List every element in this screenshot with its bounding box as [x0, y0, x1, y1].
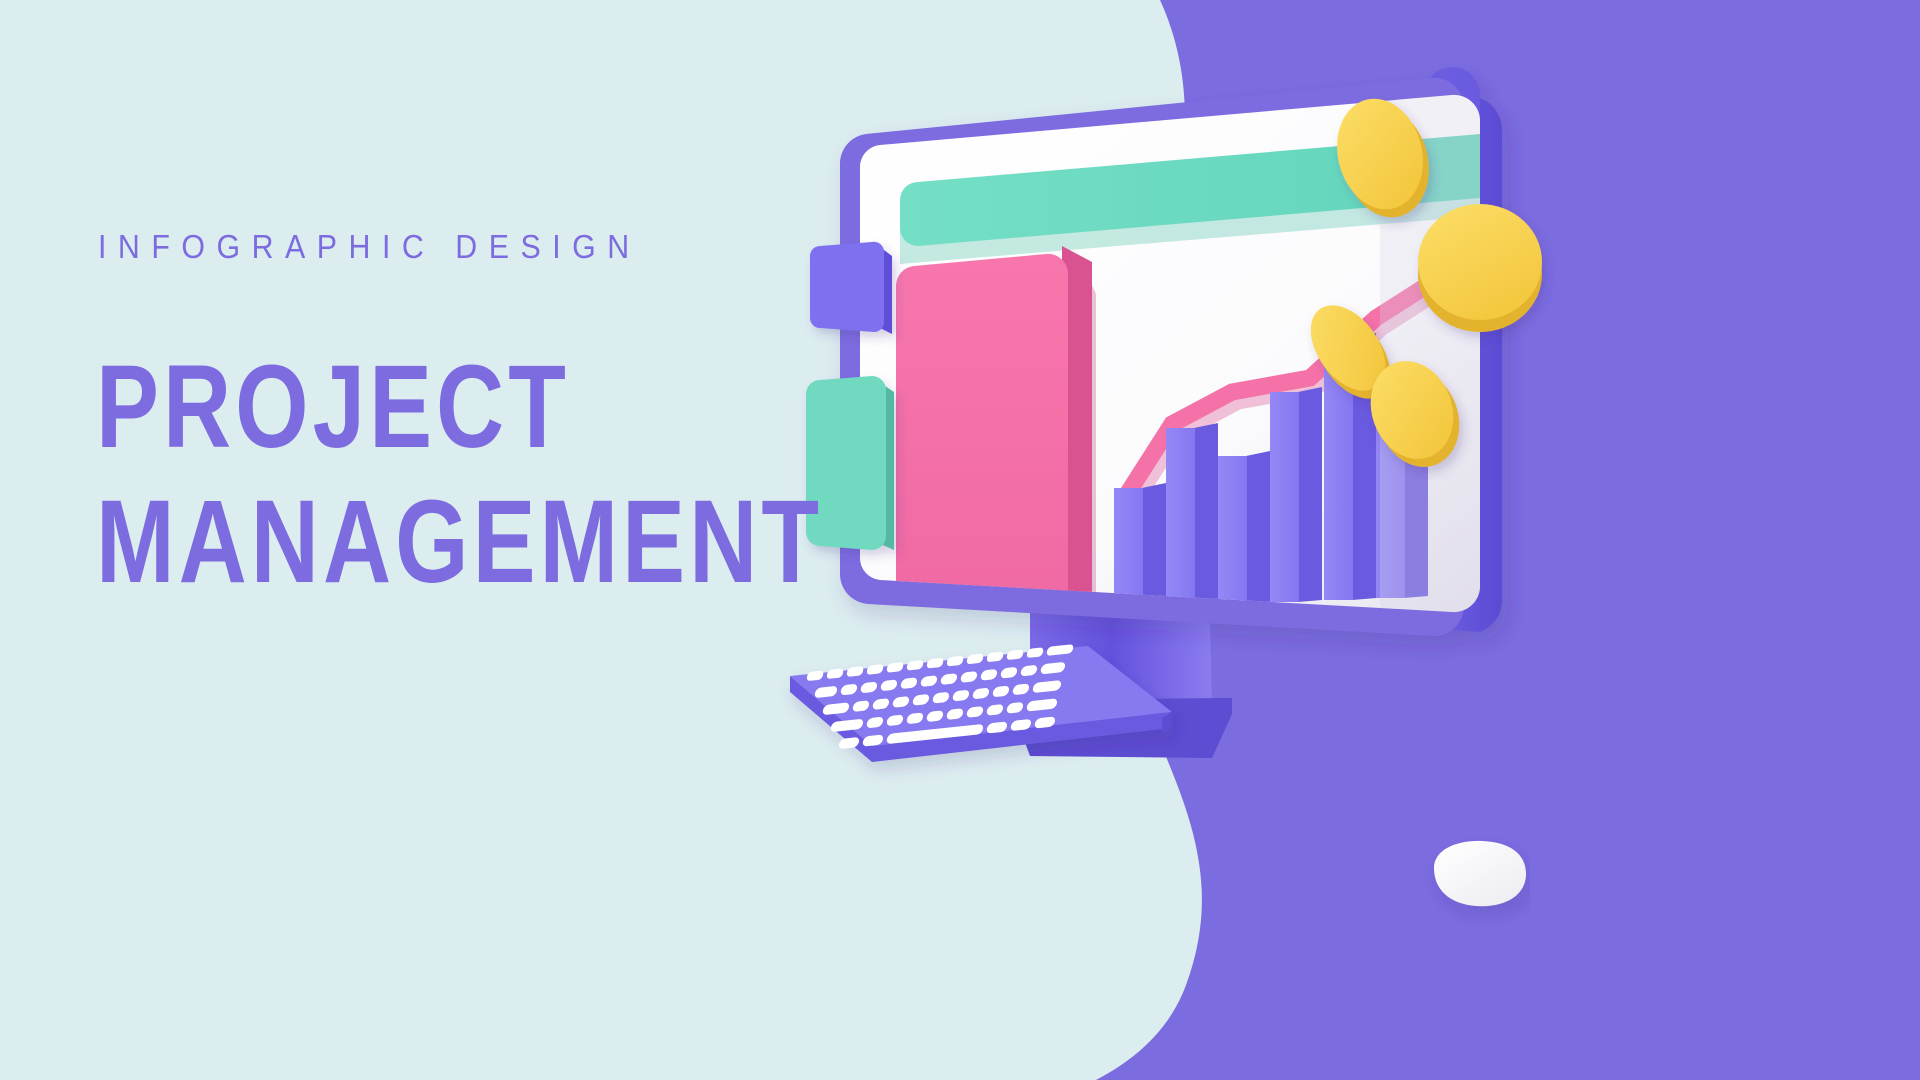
bar-1: [1114, 483, 1166, 608]
coin-right: [1418, 204, 1542, 332]
bar-3: [1218, 451, 1270, 604]
pink-content-card: [896, 246, 1096, 610]
bar-4: [1270, 387, 1322, 602]
headline-line-2: MANAGEMENT: [96, 484, 704, 601]
mouse[interactable]: [1434, 841, 1526, 906]
poster-canvas: INFOGRAPHIC DESIGN PROJECT MANAGEMENT: [0, 0, 1920, 1080]
bar-2: [1166, 423, 1218, 606]
poster-text-block: INFOGRAPHIC DESIGN PROJECT MANAGEMENT: [96, 230, 856, 601]
peripherals: [770, 600, 1530, 1040]
eyebrow-text: INFOGRAPHIC DESIGN: [98, 230, 795, 263]
headline-line-1: PROJECT: [96, 341, 570, 473]
page-title: PROJECT MANAGEMENT: [96, 349, 704, 601]
